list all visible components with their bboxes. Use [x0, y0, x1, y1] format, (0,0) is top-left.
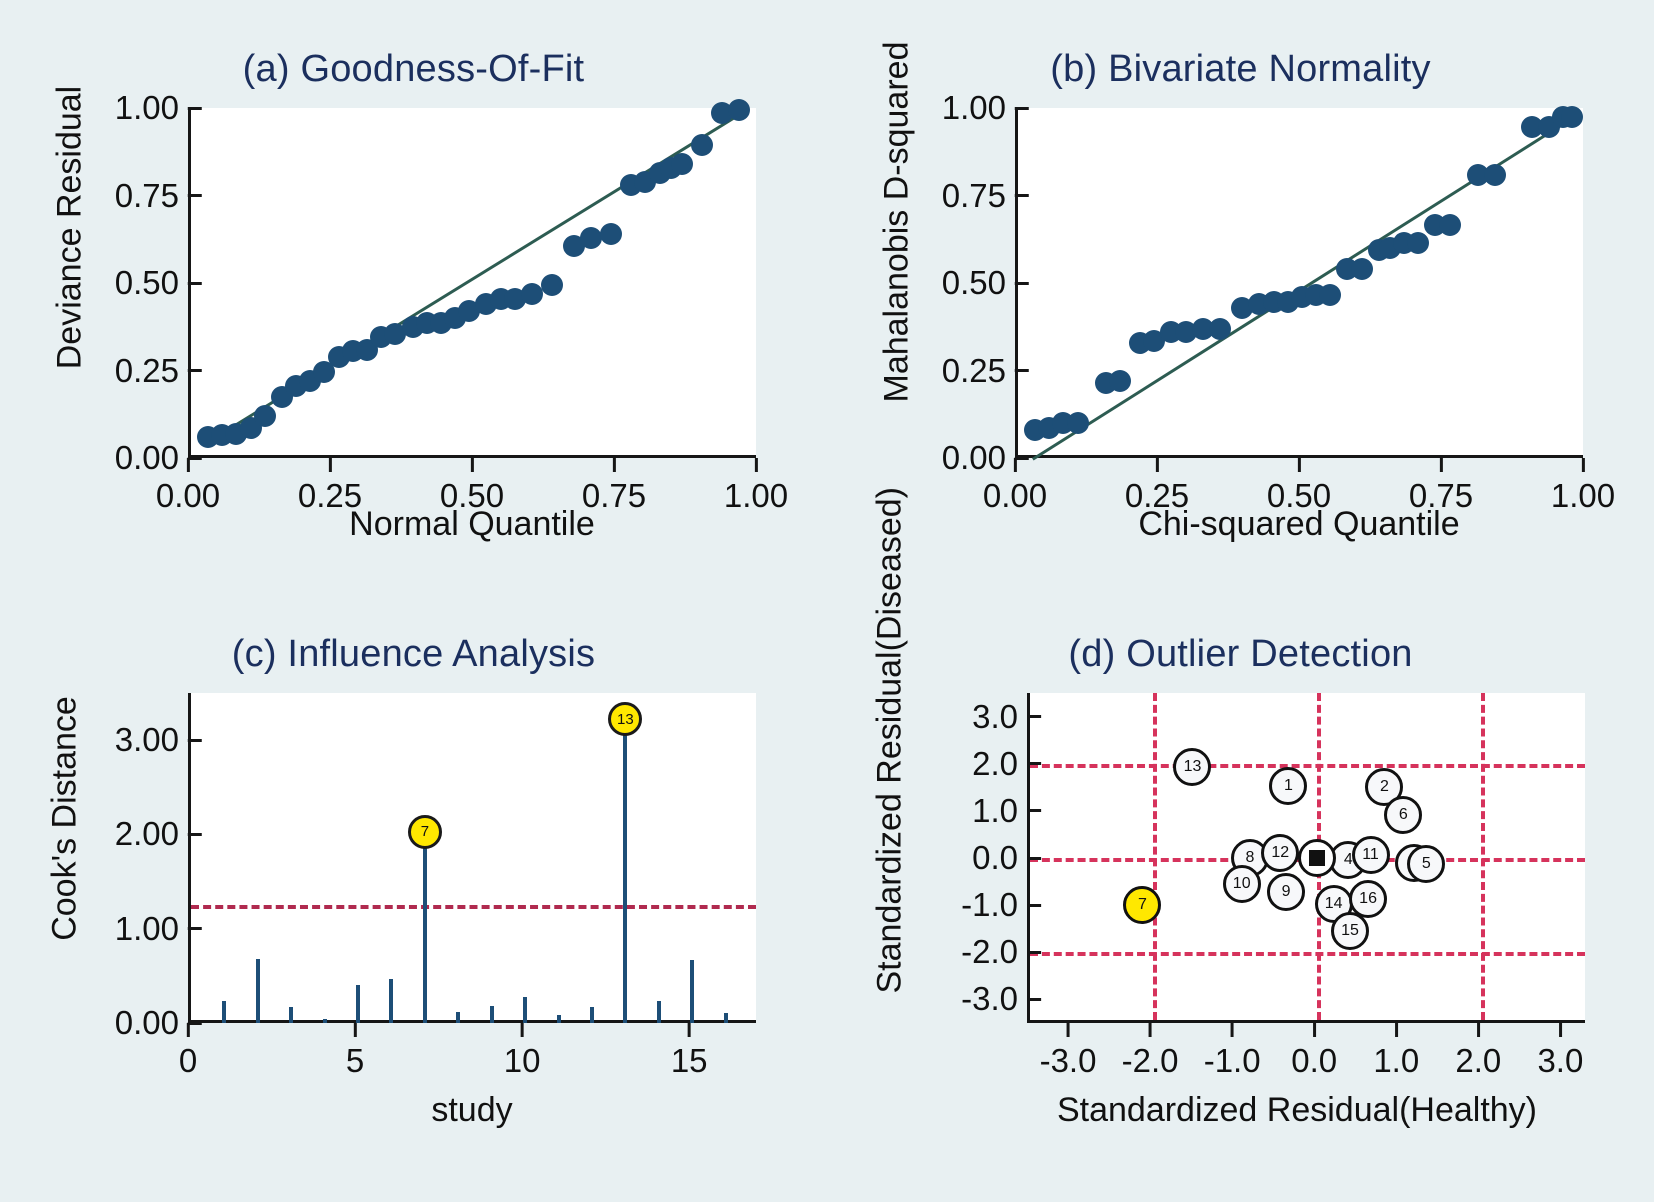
outlier-point: 10 [1223, 865, 1261, 903]
y-axis-tick-label: -3.0 [961, 980, 1027, 1018]
y-axis-tick: 0.50 [942, 264, 1015, 302]
panel-c-xlabel: study [188, 1091, 756, 1130]
x-axis-tick-label: 2.0 [1455, 1042, 1501, 1080]
x-axis-tick: 0.00 [983, 458, 1047, 515]
influence-stem [657, 1001, 661, 1023]
influential-study-marker: 13 [608, 702, 642, 736]
outlier-point-label: 5 [1422, 855, 1431, 873]
x-axis-tick-label: 0.25 [298, 477, 362, 515]
outlier-point-label: 12 [1271, 844, 1289, 862]
panel-b-plot-area [1015, 108, 1583, 458]
y-axis-tick-label: 0.00 [115, 1004, 188, 1042]
y-axis-tick-label: 0.0 [972, 839, 1027, 877]
x-axis-tick-label: 0.00 [156, 477, 220, 515]
outlier-point: 13 [1173, 748, 1211, 786]
guide-line-vertical [1481, 693, 1485, 1020]
reference-line [1032, 112, 1582, 461]
x-axis-tick: 0.50 [1267, 458, 1331, 515]
tick-mark-icon [1015, 107, 1029, 110]
y-axis-tick-label: -1.0 [961, 886, 1027, 924]
tick-mark-icon [1149, 1023, 1152, 1037]
tick-mark-icon [1015, 282, 1029, 285]
x-axis-tick-label: -3.0 [1040, 1042, 1097, 1080]
y-axis-tick-label: -2.0 [961, 933, 1027, 971]
scatter-point [1407, 232, 1429, 254]
tick-mark-icon [688, 1023, 691, 1037]
tick-mark-icon [612, 458, 615, 472]
outlier-point-label: 11 [1362, 846, 1379, 864]
outlier-point-label: 15 [1341, 922, 1359, 940]
influence-stem [356, 985, 360, 1023]
tick-mark-icon [1155, 458, 1158, 472]
outlier-point-label: 2 [1380, 778, 1389, 796]
x-axis-tick: 2.0 [1455, 1023, 1501, 1080]
outlier-point: 9 [1267, 873, 1305, 911]
outlier-point-label: 1 [1284, 777, 1293, 795]
y-axis-tick: -3.0 [961, 980, 1027, 1018]
tick-mark-icon [188, 833, 202, 836]
influential-study-marker: 7 [408, 815, 442, 849]
y-axis-tick: 1.00 [115, 910, 188, 948]
tick-mark-icon [1027, 904, 1041, 907]
tick-mark-icon [188, 282, 202, 285]
cook-threshold-line [191, 905, 756, 909]
panel-a-ylabel: Deviance Residual [51, 53, 90, 403]
tick-mark-icon [754, 458, 757, 472]
tick-mark-icon [1027, 762, 1041, 765]
x-axis-tick: -3.0 [1040, 1023, 1097, 1080]
x-axis-tick: 3.0 [1537, 1023, 1583, 1080]
y-axis-tick-label: 0.25 [942, 352, 1015, 390]
scatter-point [691, 134, 713, 156]
x-axis-tick-label: 0.25 [1125, 477, 1189, 515]
y-axis-tick: 1.0 [972, 792, 1027, 830]
x-axis-tick-label: 1.00 [724, 477, 788, 515]
y-axis-tick: 0.75 [942, 177, 1015, 215]
x-axis-tick-label: 1.00 [1551, 477, 1615, 515]
x-axis-tick-label: -1.0 [1204, 1042, 1261, 1080]
outlier-point-label: 9 [1282, 883, 1291, 901]
x-axis-tick-label: 0.75 [582, 477, 646, 515]
influence-stem [690, 960, 694, 1023]
y-axis-tick: 0.0 [972, 839, 1027, 877]
y-axis-tick-label: 1.00 [115, 910, 188, 948]
x-axis-tick: 0.00 [156, 458, 220, 515]
tick-mark-icon [354, 1023, 357, 1037]
outlier-point: 11 [1352, 836, 1390, 874]
x-axis-tick-label: 0.50 [440, 477, 504, 515]
x-axis-tick-label: 5 [346, 1042, 364, 1080]
scatter-point [728, 99, 750, 121]
y-axis-tick-label: 1.00 [115, 89, 188, 127]
x-axis-tick: 0.0 [1291, 1023, 1337, 1080]
panel-d-ylabel: Standardized Residual(Diseased) [871, 644, 910, 994]
scatter-point [254, 405, 276, 427]
x-axis-tick: 1.00 [724, 458, 788, 515]
x-axis-tick-label: 0.00 [983, 477, 1047, 515]
influence-stem [323, 1019, 327, 1023]
scatter-point [521, 283, 543, 305]
x-axis-tick: 5 [346, 1023, 364, 1080]
x-axis-tick: 0 [179, 1023, 197, 1080]
y-axis-tick: 3.0 [972, 698, 1027, 736]
tick-mark-icon [521, 1023, 524, 1037]
tick-mark-icon [188, 739, 202, 742]
x-axis-tick: 0.25 [1125, 458, 1189, 515]
influence-stem [289, 1007, 293, 1023]
tick-mark-icon [470, 458, 473, 472]
panel-bivariate-normality: (b) Bivariate Normality 1.000.750.500.25… [827, 0, 1654, 601]
panel-d-xlabel: Standardized Residual(Healthy) [997, 1091, 1597, 1130]
influence-stem [456, 1012, 460, 1023]
tick-mark-icon [1027, 809, 1041, 812]
tick-mark-icon [1027, 857, 1041, 860]
y-axis-tick: 0.00 [115, 1004, 188, 1042]
tick-mark-icon [188, 369, 202, 372]
y-axis-tick-label: 0.25 [115, 352, 188, 390]
y-axis-tick: -2.0 [961, 933, 1027, 971]
panel-c-data-layer: 713 [191, 693, 756, 1020]
panel-d-title: (d) Outlier Detection [827, 633, 1654, 676]
panel-b-title: (b) Bivariate Normality [827, 48, 1654, 91]
center-square-icon [1309, 850, 1325, 866]
x-axis-tick: -1.0 [1204, 1023, 1261, 1080]
tick-mark-icon [1581, 458, 1584, 472]
x-axis-tick-label: -2.0 [1122, 1042, 1179, 1080]
outlier-point-label: 10 [1233, 875, 1251, 893]
y-axis-tick: 2.0 [972, 745, 1027, 783]
x-axis-tick-label: 15 [671, 1042, 708, 1080]
outlier-point-label: 14 [1325, 895, 1343, 913]
tick-mark-icon [1477, 1023, 1480, 1037]
panel-a-title: (a) Goodness-Of-Fit [0, 48, 827, 91]
y-axis-tick: 1.00 [942, 89, 1015, 127]
y-axis-tick: 3.00 [115, 721, 188, 759]
y-axis-tick: 0.25 [115, 352, 188, 390]
tick-mark-icon [1015, 194, 1029, 197]
panel-c-title: (c) Influence Analysis [0, 633, 827, 676]
panel-goodness-of-fit: (a) Goodness-Of-Fit 1.000.750.500.250.00… [0, 0, 827, 601]
y-axis-tick: 0.25 [942, 352, 1015, 390]
outlier-point: 15 [1331, 912, 1369, 950]
tick-mark-icon [1067, 1023, 1070, 1037]
outlier-point: 16 [1349, 880, 1387, 918]
influential-study-label: 13 [617, 711, 634, 728]
tick-mark-icon [188, 194, 202, 197]
x-axis-tick-label: 1.0 [1373, 1042, 1419, 1080]
guide-line-horizontal [1030, 952, 1585, 956]
influence-stem [590, 1007, 594, 1023]
x-axis-tick: 0.50 [440, 458, 504, 515]
y-axis-tick: 0.50 [115, 264, 188, 302]
diagnostic-figure: (a) Goodness-Of-Fit 1.000.750.500.250.00… [0, 0, 1654, 1202]
influence-stem [389, 979, 393, 1023]
panel-b-data-layer [1018, 108, 1583, 455]
tick-mark-icon [1559, 1023, 1562, 1037]
y-axis-tick-label: 3.00 [115, 721, 188, 759]
influence-stem [423, 832, 427, 1023]
outlier-point: 12 [1261, 834, 1299, 872]
scatter-point [580, 227, 602, 249]
influence-stem [724, 1013, 728, 1023]
y-axis-tick: 2.00 [115, 815, 188, 853]
scatter-point [1561, 106, 1583, 128]
x-axis-tick: 0.25 [298, 458, 362, 515]
x-axis-tick: -2.0 [1122, 1023, 1179, 1080]
x-axis-tick-label: 0.50 [1267, 477, 1331, 515]
center-reference-marker [1298, 839, 1336, 877]
scatter-point [600, 223, 622, 245]
x-axis-tick-label: 10 [504, 1042, 541, 1080]
y-axis-tick: 1.00 [115, 89, 188, 127]
x-axis-tick: 0.75 [582, 458, 646, 515]
outlier-point: 6 [1384, 796, 1422, 834]
tick-mark-icon [1013, 458, 1016, 472]
scatter-point [1351, 258, 1373, 280]
tick-mark-icon [328, 458, 331, 472]
y-axis-tick-label: 0.50 [115, 264, 188, 302]
influence-stem [222, 1001, 226, 1023]
y-axis-tick: 0.75 [115, 177, 188, 215]
scatter-point [541, 274, 563, 296]
y-axis-tick-label: 1.0 [972, 792, 1027, 830]
panel-a-data-layer [191, 108, 756, 455]
scatter-point [1484, 164, 1506, 186]
x-axis-tick-label: 0 [179, 1042, 197, 1080]
y-axis-tick-label: 3.0 [972, 698, 1027, 736]
outlier-point-label: 16 [1359, 890, 1377, 908]
outlier-point-label: 13 [1184, 758, 1202, 776]
influence-stem [523, 997, 527, 1023]
x-axis-tick-label: 3.0 [1537, 1042, 1583, 1080]
x-axis-tick: 1.00 [1551, 458, 1615, 515]
panel-influence-analysis: (c) Influence Analysis 713 3.002.001.000… [0, 601, 827, 1202]
x-axis-tick: 10 [504, 1023, 541, 1080]
influence-stem [256, 959, 260, 1023]
tick-mark-icon [1439, 458, 1442, 472]
y-axis-tick-label: 2.0 [972, 745, 1027, 783]
scatter-point [1319, 284, 1341, 306]
influence-stem [557, 1015, 561, 1023]
panel-d-data-layer: 12345678910111213141516 [1030, 693, 1585, 1020]
tick-mark-icon [1027, 998, 1041, 1001]
tick-mark-icon [186, 1023, 189, 1037]
y-axis-tick-label: 0.75 [115, 177, 188, 215]
tick-mark-icon [1027, 715, 1041, 718]
x-axis-tick: 15 [671, 1023, 708, 1080]
tick-mark-icon [188, 107, 202, 110]
x-axis-tick: 1.0 [1373, 1023, 1419, 1080]
outlier-point-label: 8 [1245, 849, 1254, 867]
scatter-point [1109, 370, 1131, 392]
y-axis-tick-label: 1.00 [942, 89, 1015, 127]
tick-mark-icon [1395, 1023, 1398, 1037]
scatter-point [1067, 412, 1089, 434]
tick-mark-icon [1027, 951, 1041, 954]
scatter-point [1209, 318, 1231, 340]
outlier-point-label: 6 [1399, 806, 1408, 824]
tick-mark-icon [1231, 1023, 1234, 1037]
influence-stem [623, 719, 627, 1023]
tick-mark-icon [1015, 369, 1029, 372]
guide-line-horizontal [1030, 764, 1585, 768]
scatter-point [671, 153, 693, 175]
y-axis-tick-label: 0.75 [942, 177, 1015, 215]
outlier-point-label: 7 [1138, 896, 1147, 914]
outlier-point: 5 [1407, 845, 1445, 883]
y-axis-tick-label: 2.00 [115, 815, 188, 853]
tick-mark-icon [186, 458, 189, 472]
outlier-point: 1 [1269, 767, 1307, 805]
x-axis-tick-label: 0.0 [1291, 1042, 1337, 1080]
panel-a-plot-area [188, 108, 756, 458]
tick-mark-icon [1297, 458, 1300, 472]
y-axis-tick: -1.0 [961, 886, 1027, 924]
panel-b-ylabel: Mahalanobis D-squared [878, 53, 917, 403]
x-axis-tick: 0.75 [1409, 458, 1473, 515]
y-axis-tick-label: 0.50 [942, 264, 1015, 302]
influential-study-label: 7 [421, 823, 429, 840]
panel-d-plot-area: 12345678910111213141516 [1027, 693, 1585, 1023]
panel-c-plot-area: 713 [188, 693, 756, 1023]
x-axis-tick-label: 0.75 [1409, 477, 1473, 515]
panel-c-ylabel: Cook's Distance [46, 649, 85, 989]
tick-mark-icon [188, 927, 202, 930]
tick-mark-icon [1313, 1023, 1316, 1037]
panel-outlier-detection: (d) Outlier Detection 123456789101112131… [827, 601, 1654, 1202]
influence-stem [490, 1006, 494, 1023]
scatter-point [1439, 214, 1461, 236]
guide-line-vertical [1153, 693, 1157, 1020]
